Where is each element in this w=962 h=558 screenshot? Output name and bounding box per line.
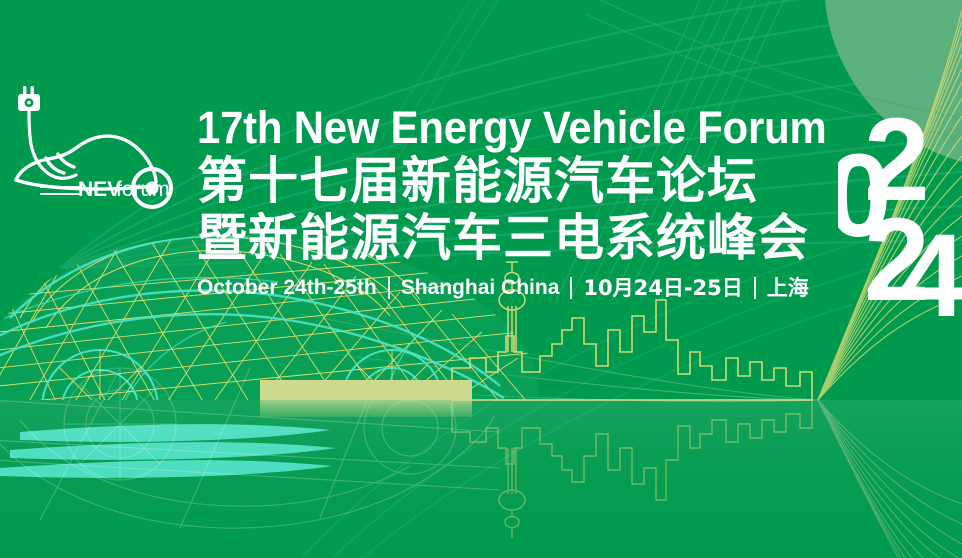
logo-wordmark-bold: NEV: [78, 178, 121, 201]
headline-block: 17th New Energy Vehicle Forum 第十七届新能源汽车论…: [197, 103, 837, 301]
location-chinese: 上海: [767, 275, 809, 301]
nevforum-logo[interactable]: NEV forum: [4, 76, 184, 216]
info-separator-2: [570, 277, 572, 299]
date-chinese: 10月24日-25日: [583, 275, 742, 301]
charging-plug-icon: [18, 86, 40, 111]
logo-wordmark-light: forum: [116, 178, 170, 201]
location-english: Shanghai China: [401, 275, 560, 301]
year-digit-4: 4: [900, 210, 962, 320]
event-info-line: October 24th-25th Shanghai China 10月24日-…: [197, 275, 837, 301]
title-english: 17th New Energy Vehicle Forum: [197, 103, 792, 153]
title-chinese-line-1: 第十七届新能源汽车论坛: [197, 153, 837, 210]
year-2024-mark: 2 0 2 4: [838, 104, 962, 320]
conference-banner: NEV forum 17th New Energy Vehicle Forum …: [0, 0, 962, 558]
pale-accent-bar: [260, 380, 472, 400]
date-english: October 24th-25th: [197, 275, 377, 301]
info-separator-3: [754, 277, 756, 299]
title-chinese-line-2: 暨新能源汽车三电系统峰会: [197, 210, 837, 267]
water-reflection-wash: [0, 400, 962, 558]
info-separator-1: [388, 277, 390, 299]
